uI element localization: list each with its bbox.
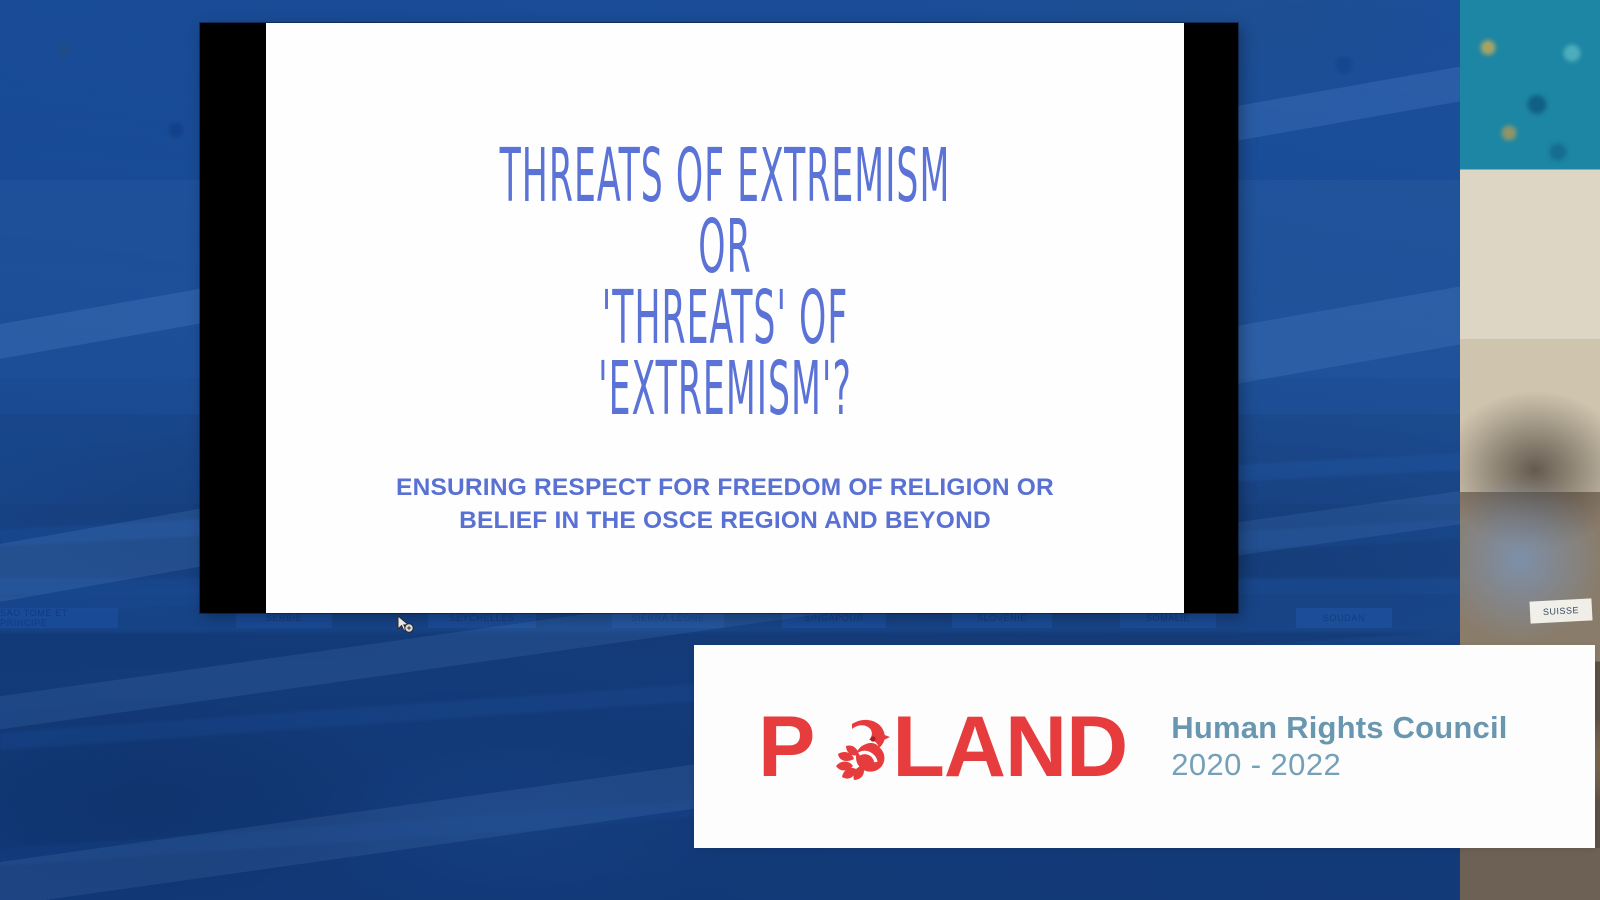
council-label-group: Human Rights Council 2020 - 2022 <box>1171 710 1507 784</box>
poland-eagle-emblem-icon <box>816 704 890 790</box>
poland-hrc-branding-card: P <box>694 645 1595 848</box>
poland-logo: P <box>758 697 1127 797</box>
poland-letter-p: P <box>758 704 814 790</box>
slide-subtitle: ENSURING RESPECT FOR FREEDOM OF RELIGION… <box>316 471 1134 537</box>
share-screen-cursor-icon <box>396 615 414 633</box>
council-name: Human Rights Council <box>1171 710 1507 747</box>
slide-title: THREATS OF EXTREMISM OR 'THREATS' OF 'EX… <box>486 141 963 425</box>
slide-canvas: THREATS OF EXTREMISM OR 'THREATS' OF 'EX… <box>266 23 1184 613</box>
poland-letters-land: LAND <box>892 704 1127 790</box>
strip-ceiling-artwork <box>1460 0 1600 190</box>
shared-slide-frame[interactable]: THREATS OF EXTREMISM OR 'THREATS' OF 'EX… <box>200 23 1238 613</box>
poland-wordmark: P <box>758 704 1127 790</box>
council-term: 2020 - 2022 <box>1171 746 1507 783</box>
strip-nameplate: SUISSE <box>1529 598 1592 623</box>
